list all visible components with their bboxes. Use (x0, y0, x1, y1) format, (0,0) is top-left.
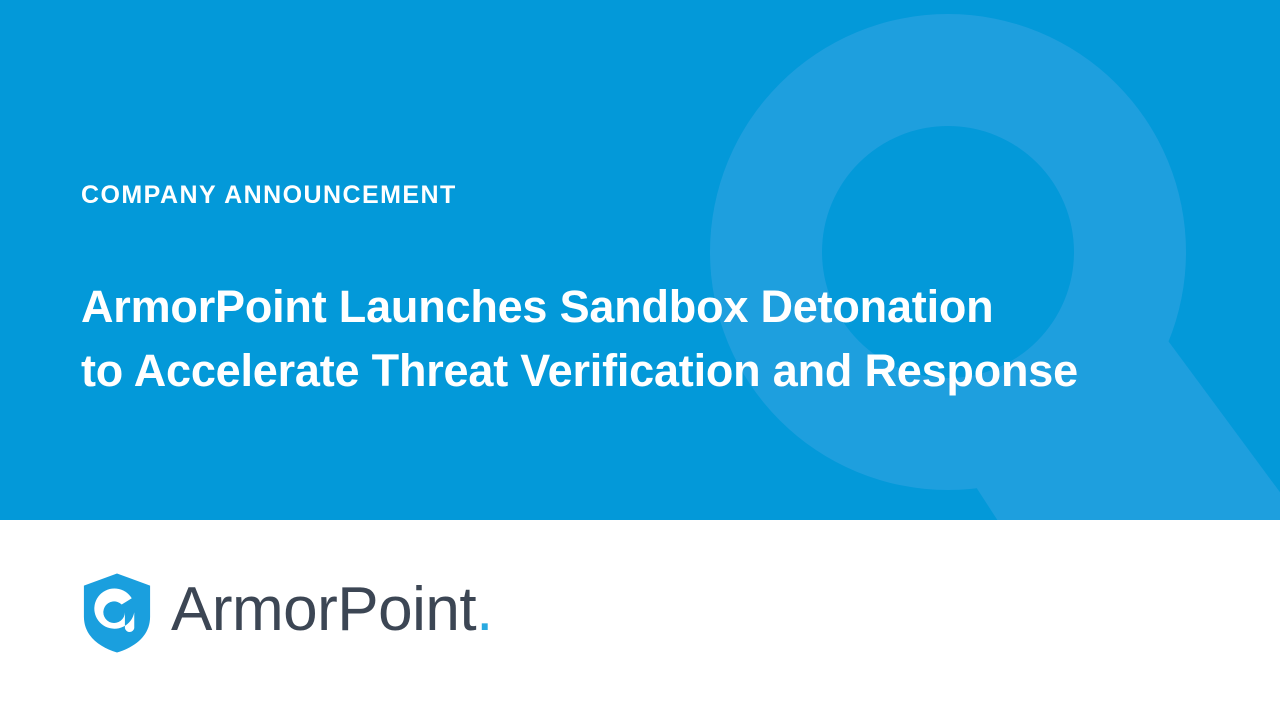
page-title: ArmorPoint Launches Sandbox Detonation t… (81, 275, 1078, 403)
armorpoint-shield-icon (81, 572, 153, 654)
hero-copy: COMPANY ANNOUNCEMENT ArmorPoint Launches… (81, 0, 1201, 520)
wordmark-period: . (476, 575, 493, 644)
headline-line-2: to Accelerate Threat Verification and Re… (81, 339, 1078, 403)
headline-line-1: ArmorPoint Launches Sandbox Detonation (81, 275, 1078, 339)
armorpoint-wordmark: ArmorPoint. (171, 579, 493, 647)
announcement-slide: COMPANY ANNOUNCEMENT ArmorPoint Launches… (0, 0, 1280, 720)
wordmark-text: ArmorPoint (171, 575, 476, 644)
footer-panel: ArmorPoint. (0, 520, 1280, 720)
armorpoint-logo-lockup: ArmorPoint. (81, 572, 493, 654)
hero-panel: COMPANY ANNOUNCEMENT ArmorPoint Launches… (0, 0, 1280, 520)
eyebrow-label: COMPANY ANNOUNCEMENT (81, 183, 457, 208)
